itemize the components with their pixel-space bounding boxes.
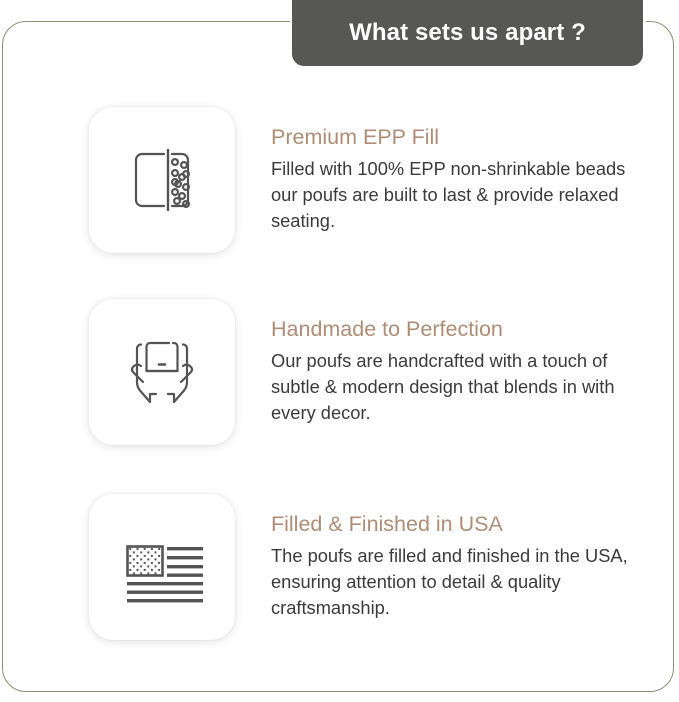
feature-item-handmade-to-perfection: Handmade to Perfection Our poufs are han… — [89, 299, 649, 445]
infographic-page: What sets us apart ? — [0, 0, 679, 702]
cushion-bead-fill-icon — [116, 134, 208, 226]
feature-title: Premium EPP Fill — [271, 125, 649, 150]
feature-description: Filled with 100% EPP non-shrinkable bead… — [271, 156, 641, 234]
feature-icon-tile — [89, 107, 235, 253]
feature-text-block: Filled & Finished in USA The poufs are f… — [235, 494, 649, 621]
feature-description: Our poufs are handcrafted with a touch o… — [271, 348, 641, 426]
feature-description: The poufs are filled and finished in the… — [271, 543, 641, 621]
feature-item-filled-finished-in-usa: Filled & Finished in USA The poufs are f… — [89, 494, 649, 640]
feature-text-block: Premium EPP Fill Filled with 100% EPP no… — [235, 107, 649, 234]
hands-holding-pouf-icon — [116, 326, 208, 418]
feature-item-premium-epp-fill: Premium EPP Fill Filled with 100% EPP no… — [89, 107, 649, 253]
feature-list: Premium EPP Fill Filled with 100% EPP no… — [0, 0, 679, 702]
feature-title: Handmade to Perfection — [271, 317, 649, 342]
usa-flag-icon — [114, 519, 210, 615]
feature-icon-tile — [89, 494, 235, 640]
feature-title: Filled & Finished in USA — [271, 512, 649, 537]
feature-text-block: Handmade to Perfection Our poufs are han… — [235, 299, 649, 426]
feature-icon-tile — [89, 299, 235, 445]
